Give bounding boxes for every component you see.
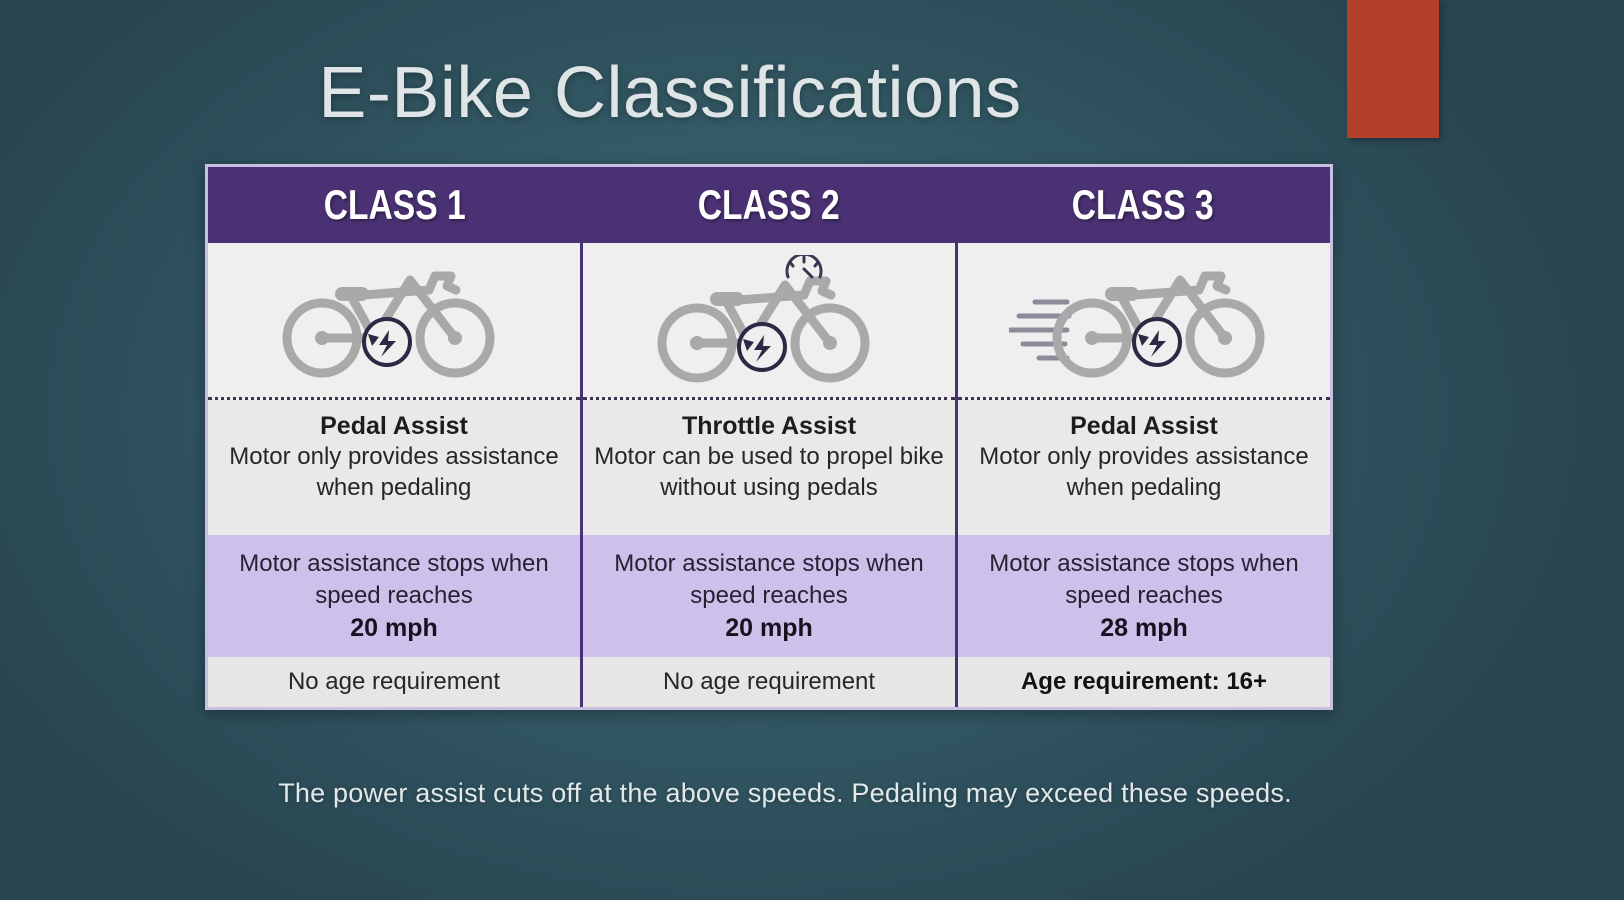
assist-cell-class-1: Pedal Assist Motor only provides assista… (208, 400, 580, 535)
bicycle-with-throttle-icon (654, 255, 884, 385)
speed-value: 28 mph (1100, 612, 1188, 645)
bicycle-with-speed-lines-icon (1009, 260, 1279, 380)
age-requirement: No age requirement (663, 668, 875, 696)
age-requirement: Age requirement: 16+ (1021, 668, 1267, 696)
age-cell-class-2: No age requirement (583, 657, 955, 707)
speed-description: Motor assistance stops when speed reache… (958, 548, 1330, 612)
slide-caption: The power assist cuts off at the above s… (0, 778, 1570, 809)
header-label: CLASS 1 (324, 181, 466, 229)
speed-value: 20 mph (725, 612, 813, 645)
age-cell-class-3: Age requirement: 16+ (958, 657, 1330, 707)
header-label: CLASS 2 (698, 181, 840, 229)
ebike-classification-table: CLASS 1 CLASS 2 CLASS 3 (205, 164, 1333, 710)
throttle-gauge-glyph (787, 255, 821, 277)
age-requirement: No age requirement (288, 668, 500, 696)
assist-title: Pedal Assist (320, 410, 468, 442)
table-header-class-3: CLASS 3 (956, 167, 1330, 243)
speed-cell-class-2: Motor assistance stops when speed reache… (583, 535, 955, 657)
table-column-class-3: Pedal Assist Motor only provides assista… (955, 243, 1330, 707)
speed-value: 20 mph (350, 612, 438, 645)
table-header-class-2: CLASS 2 (582, 167, 956, 243)
icon-cell-class-2 (583, 243, 955, 400)
bicycle-with-motor-icon (279, 260, 509, 380)
speed-description: Motor assistance stops when speed reache… (583, 548, 955, 612)
table-column-class-1: Pedal Assist Motor only provides assista… (208, 243, 580, 707)
speed-cell-class-3: Motor assistance stops when speed reache… (958, 535, 1330, 657)
assist-description: Motor only provides assistance when peda… (208, 442, 580, 504)
assist-title: Pedal Assist (1070, 410, 1218, 442)
speed-description: Motor assistance stops when speed reache… (208, 548, 580, 612)
age-cell-class-1: No age requirement (208, 657, 580, 707)
page-title: E-Bike Classifications (0, 52, 1340, 134)
speed-cell-class-1: Motor assistance stops when speed reache… (208, 535, 580, 657)
icon-cell-class-1 (208, 243, 580, 400)
assist-title: Throttle Assist (682, 410, 856, 442)
assist-description: Motor can be used to propel bike without… (583, 442, 955, 504)
assist-description: Motor only provides assistance when peda… (958, 442, 1330, 504)
table-column-class-2: Throttle Assist Motor can be used to pro… (580, 243, 955, 707)
table-header-class-1: CLASS 1 (208, 167, 582, 243)
assist-cell-class-3: Pedal Assist Motor only provides assista… (958, 400, 1330, 535)
header-label: CLASS 3 (1072, 181, 1214, 229)
icon-cell-class-3 (958, 243, 1330, 400)
accent-rectangle (1347, 0, 1439, 138)
assist-cell-class-2: Throttle Assist Motor can be used to pro… (583, 400, 955, 535)
table-header-row: CLASS 1 CLASS 2 CLASS 3 (208, 167, 1330, 243)
table-body: Pedal Assist Motor only provides assista… (208, 243, 1330, 707)
